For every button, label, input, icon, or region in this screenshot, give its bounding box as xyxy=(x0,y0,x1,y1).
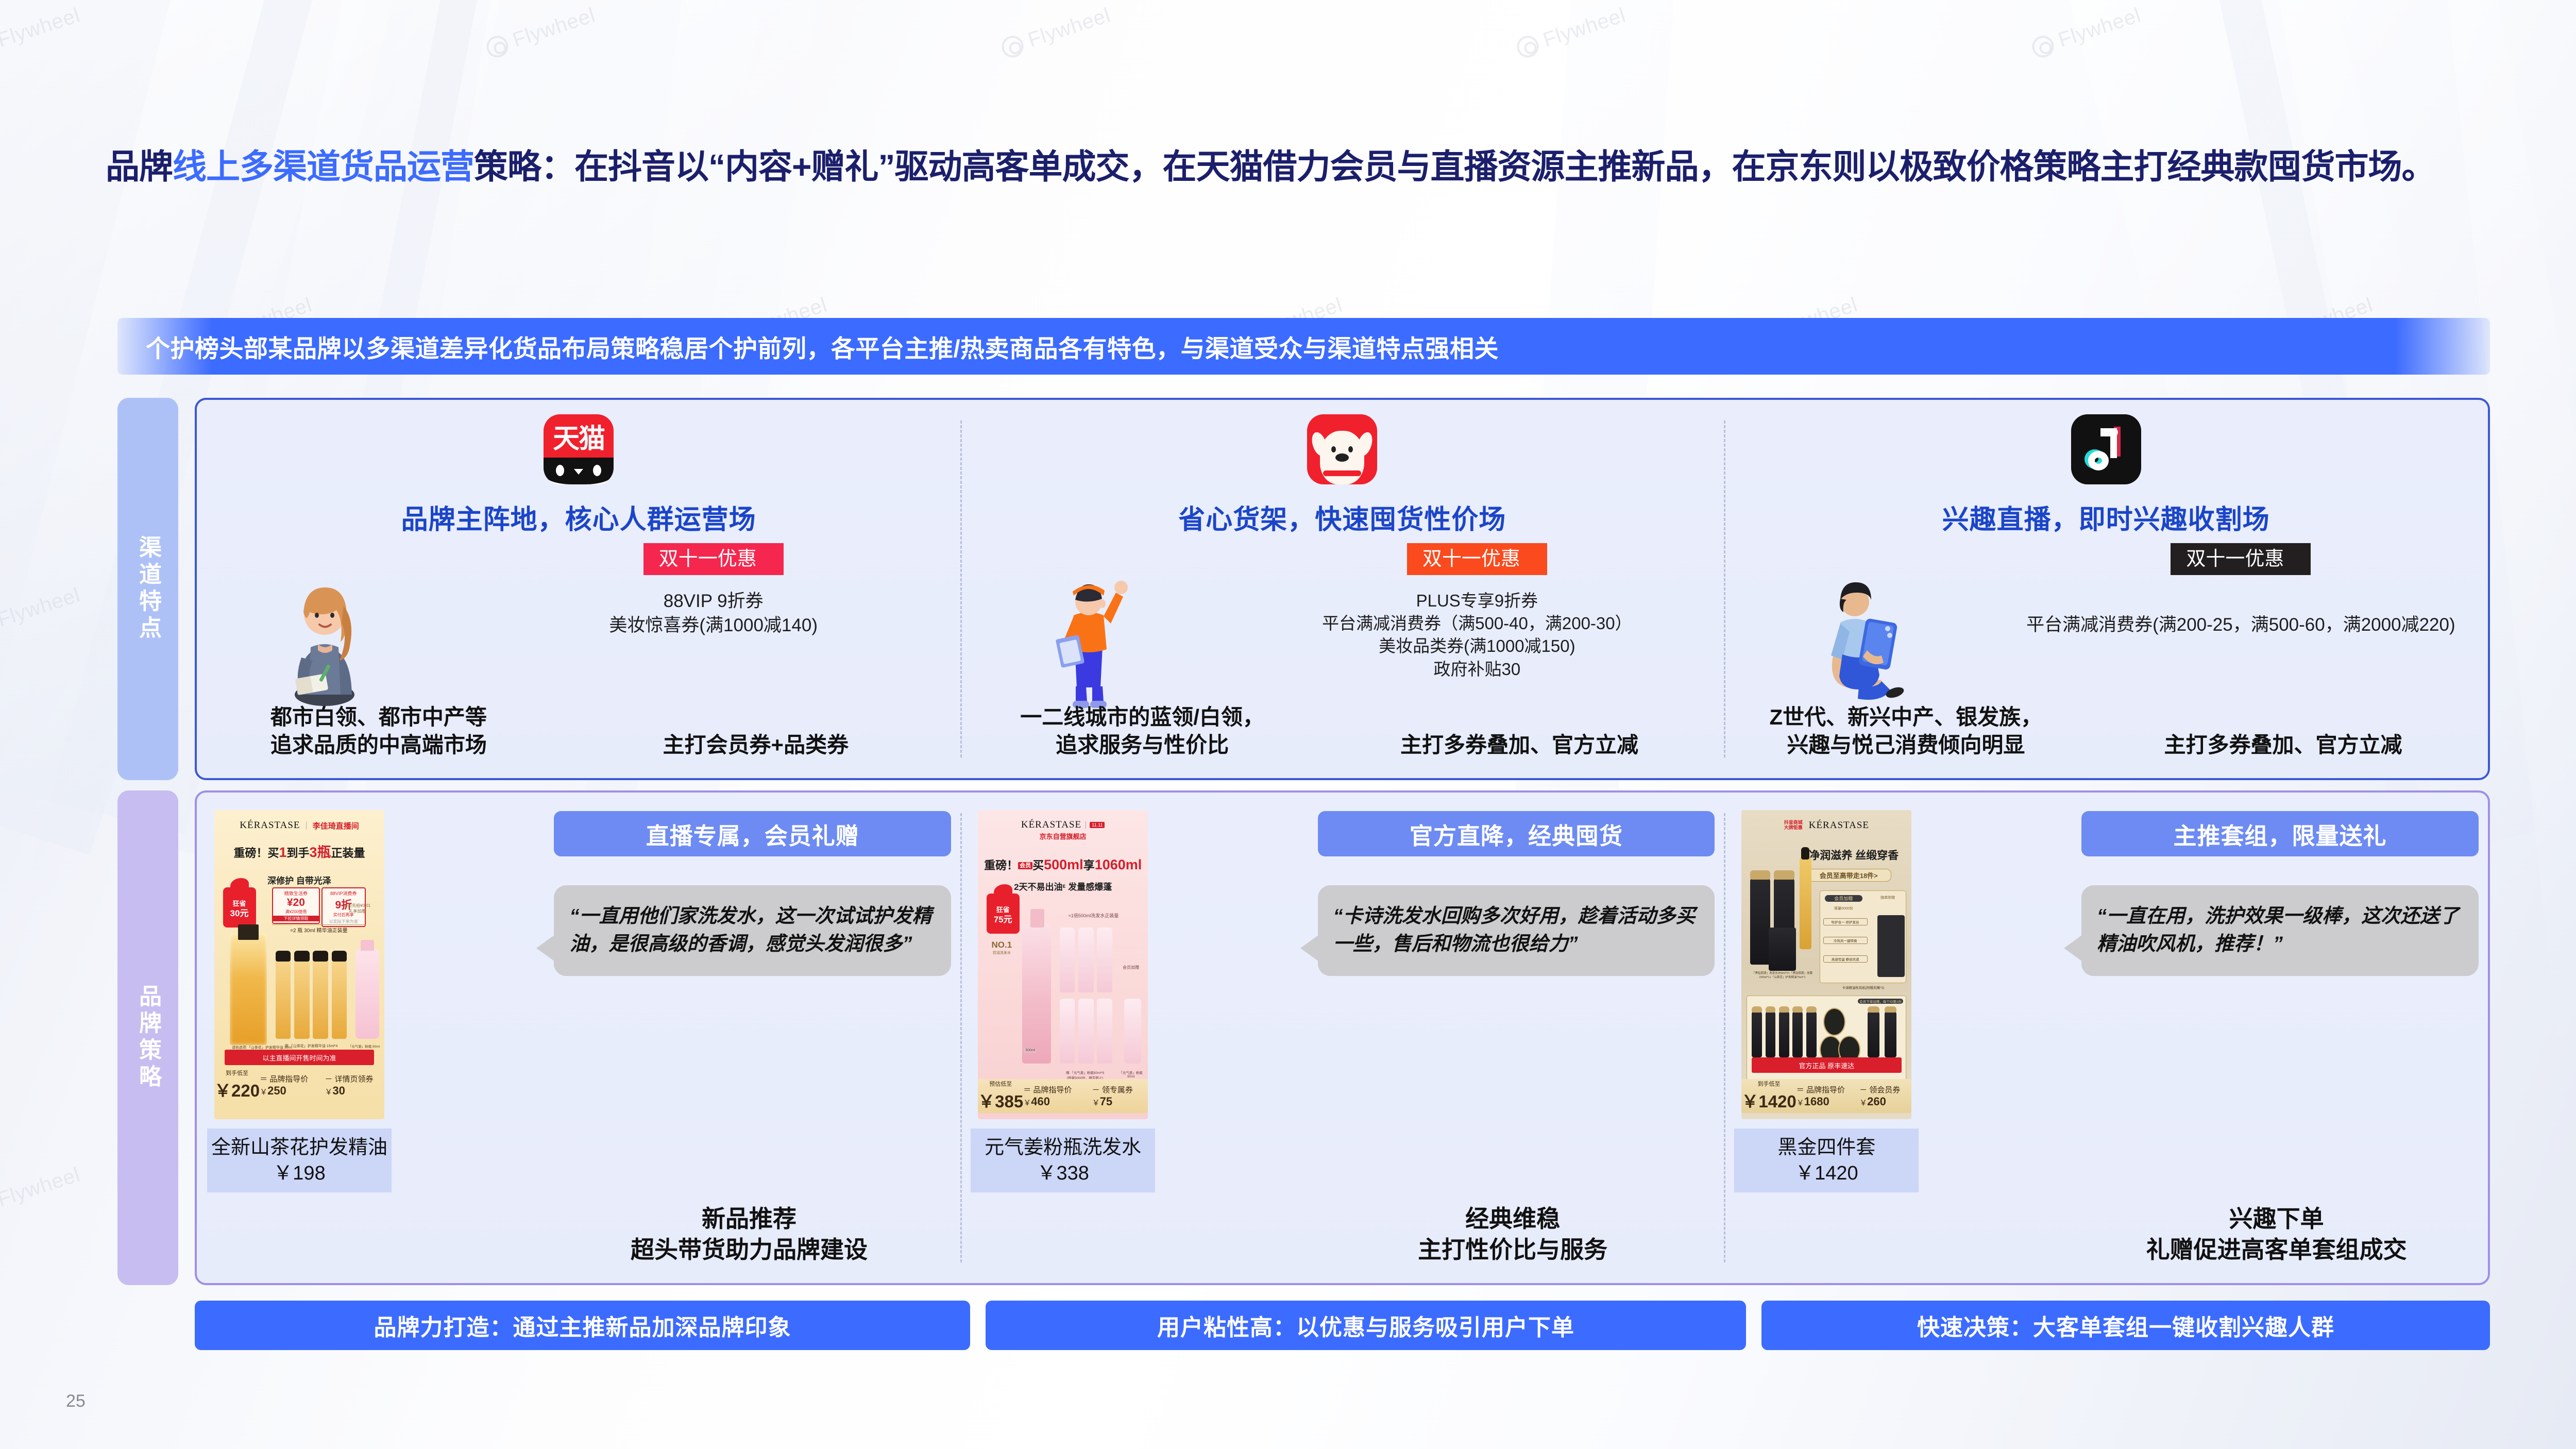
brand-column-tmall: KÉRASTASE | 李佳琦直播间 重磅！买1到手3瓶正装量 深修护 自带光泽… xyxy=(197,793,960,1283)
tmall-promo-line: 美妆惊喜券(满1000减140) xyxy=(477,614,950,638)
poster-headline-d: 3瓶 xyxy=(310,845,331,860)
illustration-seated-phone-user xyxy=(1793,554,1911,709)
jd-promo: 双十一优惠 PLUS专享9折券 平台满减消费券（满500-40，满200-30）… xyxy=(1240,543,1714,681)
poster-gift-title: 会员加赠 xyxy=(1825,895,1862,902)
poster-coupon1-action: 下拉详情领取 xyxy=(273,916,318,921)
title-prefix: 品牌 xyxy=(106,147,173,186)
product-name: 元气姜粉瓶洗发水 xyxy=(985,1135,1141,1160)
poster-brand: KÉRASTASE xyxy=(240,820,300,831)
douyin-logo-icon xyxy=(2071,414,2141,484)
poster-gift-note: 会员先拍¥0.01 礼享加赠 xyxy=(335,903,379,914)
jd-promo-line: 美妆品类券(满1000减150) xyxy=(1240,635,1714,658)
poster-discount-badge: 狂省 30元 xyxy=(223,887,256,928)
douyin-promo-line: 平台满减消费券(满200-25，满500-60，满2000减220) xyxy=(2004,613,2478,637)
quote-bubble-douyin: “一直在用，洗护效果一级棒，这次还送了精油吹风机，推荐！” xyxy=(2081,885,2479,976)
tag-pill-jd: 官方直降，经典囤货 xyxy=(1318,811,1715,856)
poster-headline-e: 1060ml xyxy=(1095,857,1142,872)
poster-redstrip: 以主直播间开售时间为准 xyxy=(225,1050,374,1065)
poster-bottle-label: 500ml xyxy=(1024,1048,1037,1053)
product-name: 黑金四件套 xyxy=(1777,1135,1875,1160)
conclusion-douyin: 兴趣下单 礼赠促进高客单套组成交 xyxy=(2070,1204,2483,1266)
poster-coupon-price: 260 xyxy=(1867,1095,1886,1108)
poster-headline-e: 正装量 xyxy=(331,847,365,860)
douyin-strategy: 主打多券叠加、官方立减 xyxy=(2084,731,2482,760)
tmall-audience: 都市白领、都市中产等 追求品质的中高端市场 xyxy=(203,703,554,760)
product-price: ￥198 xyxy=(273,1160,325,1186)
douyin-promo: 双十一优惠 平台满减消费券(满200-25，满500-60，满2000减220) xyxy=(2004,543,2478,637)
poster-final-price: ￥385 xyxy=(978,1088,1023,1113)
subtitle-banner: 个护榜头部某品牌以多渠道差异化货品布局策略稳居个护前列，各平台主推/热卖商品各有… xyxy=(117,318,2490,375)
channel-features-panel: 天猫 品牌主阵地，核心人群运营场 xyxy=(195,398,2490,780)
poster-headline-a: 重磅！ xyxy=(984,859,1018,872)
poster-shop: 李佳琦直播间 xyxy=(313,820,359,831)
poster-gift2-note: 会员下单加赠，每个ID限1份 xyxy=(1858,999,1903,1004)
poster-headline: 净润滋养 丝缎穿香 xyxy=(1803,847,1905,863)
product-poster-tmall: KÉRASTASE | 李佳琦直播间 重磅！买1到手3瓶正装量 深修护 自带光泽… xyxy=(214,810,384,1119)
poster-coupon2-action: 以实际下单为准 xyxy=(323,919,365,924)
poster-ref-price: 460 xyxy=(1031,1095,1050,1108)
poster-rank-sub: 控油洗发水 xyxy=(985,950,1019,955)
poster-shop: 京东自营旗舰店 xyxy=(1040,831,1087,841)
poster-gift-limit: 限量6000份 xyxy=(1825,906,1862,911)
poster-headline-d: 享 xyxy=(1083,859,1095,872)
conclusion-jd: 经典维稳 主打性价比与服务 xyxy=(1307,1204,1719,1266)
poster-sub: 会员至高带走18件> xyxy=(1806,869,1891,882)
bottom-bar-brand-power: 品牌力打造：通过主推新品加深品牌印象 xyxy=(195,1301,970,1350)
poster-final-price: ￥1420 xyxy=(1741,1088,1796,1113)
tmall-promo-line: 88VIP 9折券 xyxy=(477,589,950,614)
poster-gift-label2: 「元气姜」粉瓶 80ml xyxy=(1115,1070,1146,1079)
product-name-card-tmall: 全新山茶花护发精油 ￥198 xyxy=(207,1128,392,1192)
jd-strategy: 主打多券叠加、官方立减 xyxy=(1321,731,1718,760)
poster-coupon1-cond: 满¥200使用 xyxy=(273,909,318,915)
poster-mid-note: ≈1倍500ml洗发水正装量 xyxy=(1058,912,1129,919)
poster-discount-badge: 狂省 75元 xyxy=(987,894,1020,934)
tag-pill-tmall: 直播专属，会员礼赠 xyxy=(554,811,951,856)
poster-coupon-price: 30 xyxy=(332,1084,345,1097)
poster-headline-c: 500ml xyxy=(1044,857,1083,872)
poster-badge-label: 狂省 xyxy=(987,906,1020,914)
tmall-strategy: 主打会员券+品类券 xyxy=(557,731,954,760)
illustration-office-woman xyxy=(265,554,384,709)
subtitle-banner-text: 个护榜头部某品牌以多渠道差异化货品布局策略稳居个护前列，各平台主推/热卖商品各有… xyxy=(117,329,1499,364)
product-name-card-jd: 元气姜粉瓶洗发水 ￥338 xyxy=(971,1128,1155,1192)
conclusion-tmall: 新品推荐 超头带货助力品牌建设 xyxy=(543,1204,955,1266)
quote-bubble-tmall: “一直用他们家洗发水，这一次试试护发精油，是很高级的香调，感觉头发润很多” xyxy=(554,885,951,976)
poster-final-price: ￥220 xyxy=(214,1077,260,1102)
jd-promo-line: 政府补贴30 xyxy=(1240,658,1714,681)
poster-set-label: 「黑钻钥源」洗发水250ml*2+「黑钻钥源」发膜200ml*1+「山茶花」护发… xyxy=(1749,971,1817,979)
page-title: 品牌线上多渠道货品运营策略：在抖音以“内容+赠礼”驱动高客单成交，在天猫借力会员… xyxy=(106,144,2496,190)
poster-gift-label: 赠:「元气姜」粉瓶80ml*6 (限量5000份，赠完即止) xyxy=(1056,1070,1114,1080)
tmall-logo-text: 天猫 xyxy=(544,414,614,458)
poster-brand: KÉRASTASE xyxy=(1021,819,1081,831)
tmall-promo: 双十一优惠 88VIP 9折券 美妆惊喜券(满1000减140) xyxy=(477,543,950,638)
poster-headline-b: 买 xyxy=(1032,859,1044,872)
poster-coupon2-title: 88VIP消费券 xyxy=(323,890,365,897)
poster-coupon-price: 75 xyxy=(1100,1095,1112,1108)
poster-headline-a: 重磅！买 xyxy=(233,847,279,860)
poster-coupon-label: 领专属券￥ xyxy=(1092,1086,1133,1107)
poster-gift-line1: 吹护合一 修护发丝 xyxy=(1823,918,1868,925)
poster-final-label: 到手低至 xyxy=(1741,1080,1796,1088)
poster-final-label: 到手低至 xyxy=(214,1069,260,1077)
jd-audience: 一二线城市的蓝领/白领， 追求服务与性价比 xyxy=(967,703,1318,760)
tmall-promo-flag: 双十一优惠 xyxy=(643,543,784,575)
jd-promo-flag: 双十一优惠 xyxy=(1407,543,1547,575)
product-name: 全新山茶花护发精油 xyxy=(211,1135,387,1160)
jd-logo-icon xyxy=(1307,414,1377,484)
bottom-bar-user-stickiness: 用户粘性高：以优惠与服务吸引用户下单 xyxy=(986,1301,1746,1350)
sidebar-label-channel: 渠道特点 xyxy=(117,398,178,780)
jd-promo-line: 平台满减消费券（满500-40，满200-30） xyxy=(1240,612,1714,635)
poster-coupon1-title: 精致生活券 xyxy=(273,890,318,897)
poster-headline-member: 会员 xyxy=(1018,862,1032,869)
poster-gift-note: 会员加赠 xyxy=(1117,965,1145,970)
douyin-audience: Z世代、新兴中产、银发族， 兴趣与悦己消费倾向明显 xyxy=(1730,703,2081,760)
title-highlight: 线上多渠道货品运营 xyxy=(173,147,474,186)
brand-column-douyin: 抖音商城 大牌钜惠 KÉRASTASE 净润滋养 丝缎穿香 会员至高带走18件> xyxy=(1724,793,2488,1283)
douyin-headline: 兴趣直播，即时兴趣收割场 xyxy=(1724,498,2488,536)
poster-headline-b: 1 xyxy=(279,845,286,860)
poster-redstrip: 官方正品 原丰速达 xyxy=(1752,1057,1901,1073)
product-price: ￥338 xyxy=(1037,1160,1089,1186)
poster-rank-badge: NO.1 xyxy=(985,940,1019,950)
poster-brand: KÉRASTASE xyxy=(1809,820,1869,831)
title-suffix: 策略：在抖音以“内容+赠礼”驱动高客单成交，在天猫借力会员与直播资源主推新品，在… xyxy=(474,147,2435,186)
poster-coupon1-value: ¥20 xyxy=(273,897,318,909)
product-poster-jd: KÉRASTASE | 11.11 京东自营旗舰店 重磅！会员买500ml享10… xyxy=(978,810,1148,1119)
poster-gift-label: 赠:「山茶花」护发精华油 15ml*4 xyxy=(276,1043,347,1049)
channel-column-douyin: 兴趣直播，即时兴趣收割场 双十一优惠 xyxy=(1724,400,2488,778)
poster-gift-extra: 随单附赠 xyxy=(1872,895,1903,900)
jd-headline: 省心货架，快速囤货性价场 xyxy=(960,498,1724,536)
illustration-delivery-worker xyxy=(1029,554,1148,709)
poster-mid-note: =2 瓶 30ml 精华油正装量 xyxy=(272,924,366,934)
sidebar-label-brand: 品牌策略 xyxy=(117,790,178,1285)
product-name-card-douyin: 黑金四件套 ￥1420 xyxy=(1734,1128,1919,1192)
poster-gift-note: 卡诗精油吹风机(附赠风嘴*3) xyxy=(1820,985,1906,990)
poster-festival: 11.11 xyxy=(1090,822,1105,828)
douyin-promo-flag: 双十一优惠 xyxy=(2171,543,2311,575)
poster-headline-c: 到手 xyxy=(286,847,309,860)
poster-ref-price: 1680 xyxy=(1804,1095,1829,1108)
channel-column-tmall: 天猫 品牌主阵地，核心人群运营场 xyxy=(197,400,960,778)
tmall-logo-icon: 天猫 xyxy=(544,414,614,484)
poster-gift-line2: 冷热风一键转换 xyxy=(1823,937,1868,944)
tag-pill-douyin: 主推套组，限量送礼 xyxy=(2081,811,2479,856)
page-number: 25 xyxy=(66,1391,86,1411)
poster-shop: 抖音商城 大牌钜惠 xyxy=(1784,820,1803,831)
brand-strategy-panel: KÉRASTASE | 李佳琦直播间 重磅！买1到手3瓶正装量 深修护 自带光泽… xyxy=(195,790,2490,1285)
jd-promo-line: PLUS专享9折券 xyxy=(1240,589,1714,612)
poster-final-label: 预估低至 xyxy=(978,1080,1023,1088)
poster-badge-value: 30元 xyxy=(223,908,256,919)
brand-column-jd: KÉRASTASE | 11.11 京东自营旗舰店 重磅！会员买500ml享10… xyxy=(960,793,1724,1283)
poster-ref-price: 250 xyxy=(267,1084,286,1097)
poster-gift-line3: 高速恒温 静音风道 xyxy=(1823,955,1868,963)
bottom-bar-fast-decision: 快速决策：大客单套组一键收割兴趣人群 xyxy=(1761,1301,2490,1350)
product-price: ￥1420 xyxy=(1795,1160,1858,1186)
poster-badge-label: 狂省 xyxy=(223,900,256,908)
poster-badge-value: 75元 xyxy=(987,914,1020,925)
quote-bubble-jd: “卡诗洗发水回购多次好用，趁着活动多买一些，售后和物流也很给力” xyxy=(1318,885,1715,976)
tmall-headline: 品牌主阵地，核心人群运营场 xyxy=(197,498,960,536)
channel-column-jd: 省心货架，快速囤货性价场 双十一优惠 xyxy=(960,400,1724,778)
product-poster-douyin: 抖音商城 大牌钜惠 KÉRASTASE 净润滋养 丝缎穿香 会员至高带走18件> xyxy=(1741,810,1911,1119)
